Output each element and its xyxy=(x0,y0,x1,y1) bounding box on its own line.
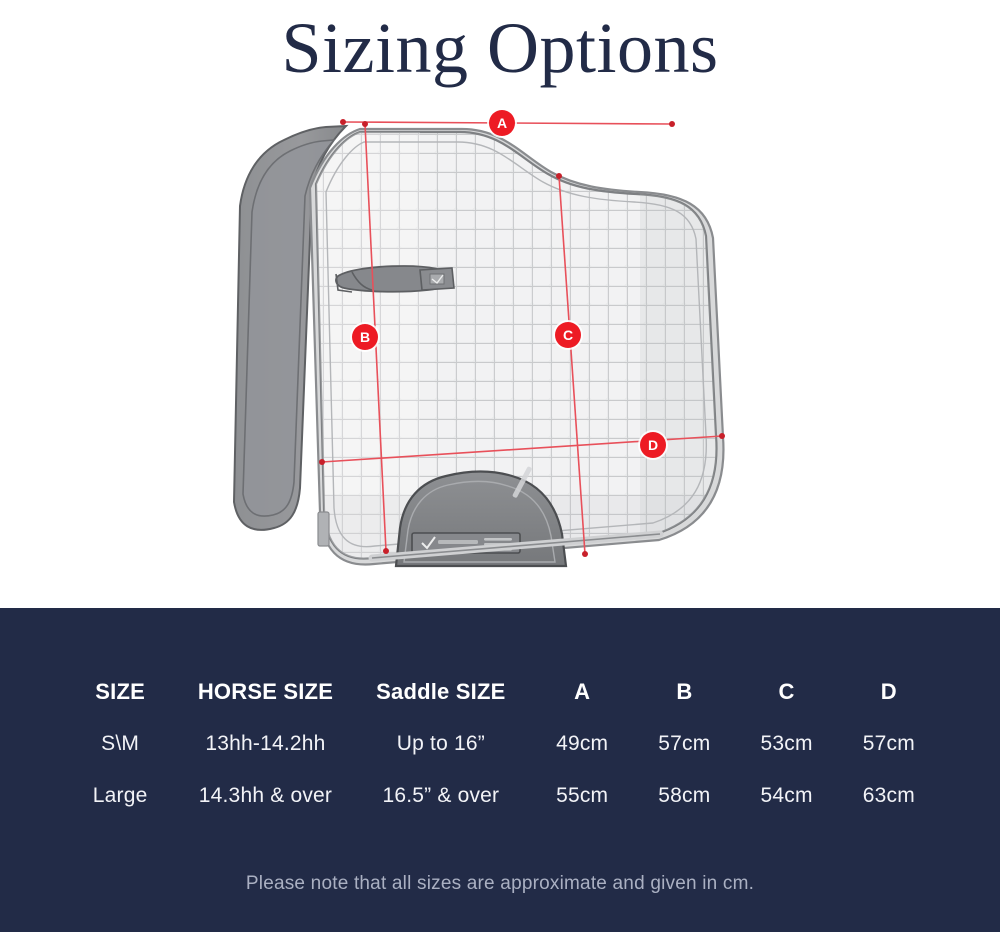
measure-marker-d: D xyxy=(640,432,666,458)
page-title: Sizing Options xyxy=(281,12,718,84)
cell-saddle-size: Up to 16” xyxy=(351,718,531,770)
cell-a: 49cm xyxy=(531,718,633,770)
cell-horse-size: 13hh-14.2hh xyxy=(180,718,350,770)
column-header-b: B xyxy=(633,666,735,718)
column-header-horse-size: HORSE SIZE xyxy=(180,666,350,718)
column-header-saddle-size: Saddle SIZE xyxy=(351,666,531,718)
table-header-row: SIZE HORSE SIZE Saddle SIZE A B C D xyxy=(60,666,940,718)
column-header-a: A xyxy=(531,666,633,718)
saddle-pad-diagram: A B C D xyxy=(0,96,1000,608)
cell-c: 54cm xyxy=(735,770,837,822)
brand-tab-wither xyxy=(420,268,454,290)
measure-marker-b: B xyxy=(352,324,378,350)
measure-marker-c: C xyxy=(555,322,581,348)
cell-b: 58cm xyxy=(633,770,735,822)
column-header-d: D xyxy=(838,666,940,718)
title-area: Sizing Options xyxy=(0,0,1000,96)
cell-saddle-size: 16.5” & over xyxy=(351,770,531,822)
cell-a: 55cm xyxy=(531,770,633,822)
cell-c: 53cm xyxy=(735,718,837,770)
cell-b: 57cm xyxy=(633,718,735,770)
cell-d: 57cm xyxy=(838,718,940,770)
saddle-pad-illustration xyxy=(0,96,1000,608)
table-header: SIZE HORSE SIZE Saddle SIZE A B C D xyxy=(60,666,940,718)
sizing-options-page: Sizing Options xyxy=(0,0,1000,932)
side-label-tab xyxy=(318,512,329,546)
cell-size: Large xyxy=(60,770,180,822)
cell-d: 63cm xyxy=(838,770,940,822)
table-body: S\M 13hh-14.2hh Up to 16” 49cm 57cm 53cm… xyxy=(60,718,940,822)
cell-horse-size: 14.3hh & over xyxy=(180,770,350,822)
table-note: Please note that all sizes are approxima… xyxy=(0,873,1000,895)
cell-size: S\M xyxy=(60,718,180,770)
measure-marker-a: A xyxy=(489,110,515,136)
sizing-table-panel: SIZE HORSE SIZE Saddle SIZE A B C D S\M … xyxy=(0,608,1000,932)
column-header-size: SIZE xyxy=(60,666,180,718)
column-header-c: C xyxy=(735,666,837,718)
sizing-table: SIZE HORSE SIZE Saddle SIZE A B C D S\M … xyxy=(60,666,940,822)
table-row: Large 14.3hh & over 16.5” & over 55cm 58… xyxy=(60,770,940,822)
table-row: S\M 13hh-14.2hh Up to 16” 49cm 57cm 53cm… xyxy=(60,718,940,770)
